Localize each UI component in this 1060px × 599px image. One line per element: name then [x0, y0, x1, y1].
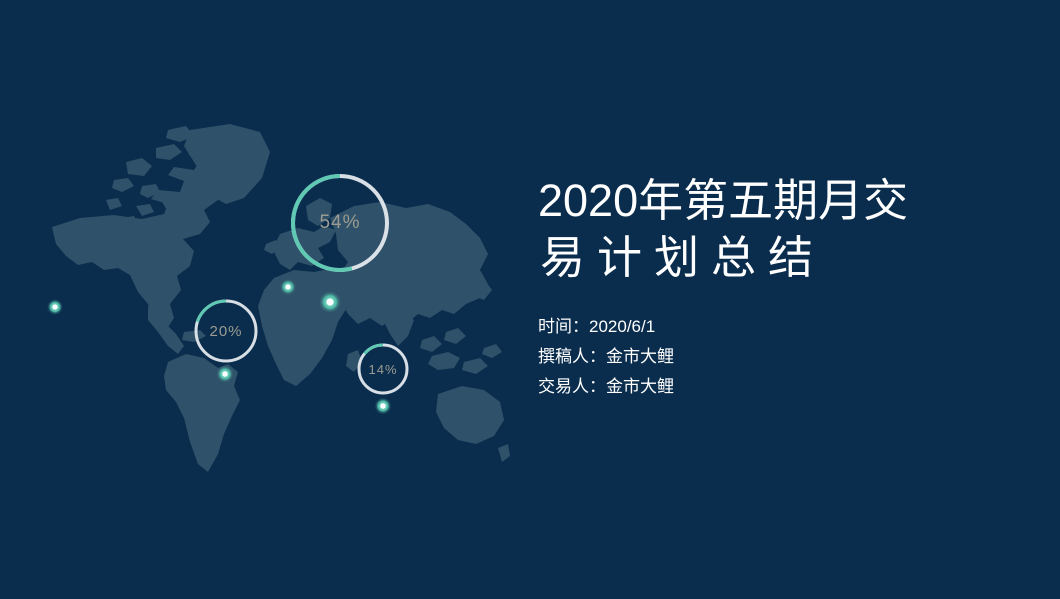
- marker-north-europe-icon: [280, 279, 296, 295]
- donut-gauge-20: 20%: [193, 298, 259, 364]
- donut-gauge-svg: [356, 342, 410, 396]
- subtitle-author: 撰稿人：金市大鲤: [538, 342, 1048, 372]
- subtitle-block: 时间：2020/6/1 撰稿人：金市大鲤 交易人：金市大鲤: [538, 312, 1048, 402]
- presentation-slide: 54%20%14% 2020年第五期月交 易计划总结 时间：2020/6/1 撰…: [0, 0, 1060, 599]
- donut-gauge-svg: [193, 298, 259, 364]
- marker-oceania-icon: [375, 398, 392, 415]
- donut-gauge-14: 14%: [356, 342, 410, 396]
- donut-gauge-svg: [289, 172, 391, 274]
- marker-south-america-icon: [217, 366, 234, 383]
- page-title-line-2: 易计划总结: [540, 229, 1048, 286]
- title-block: 2020年第五期月交 易计划总结 时间：2020/6/1 撰稿人：金市大鲤 交易…: [538, 172, 1048, 402]
- marker-pacific-icon: [47, 299, 63, 315]
- marker-europe-icon: [319, 291, 341, 313]
- subtitle-trader: 交易人：金市大鲤: [538, 372, 1048, 402]
- subtitle-date: 时间：2020/6/1: [538, 312, 1048, 342]
- donut-gauge-54: 54%: [289, 172, 391, 274]
- page-title-line-1: 2020年第五期月交: [538, 172, 1048, 229]
